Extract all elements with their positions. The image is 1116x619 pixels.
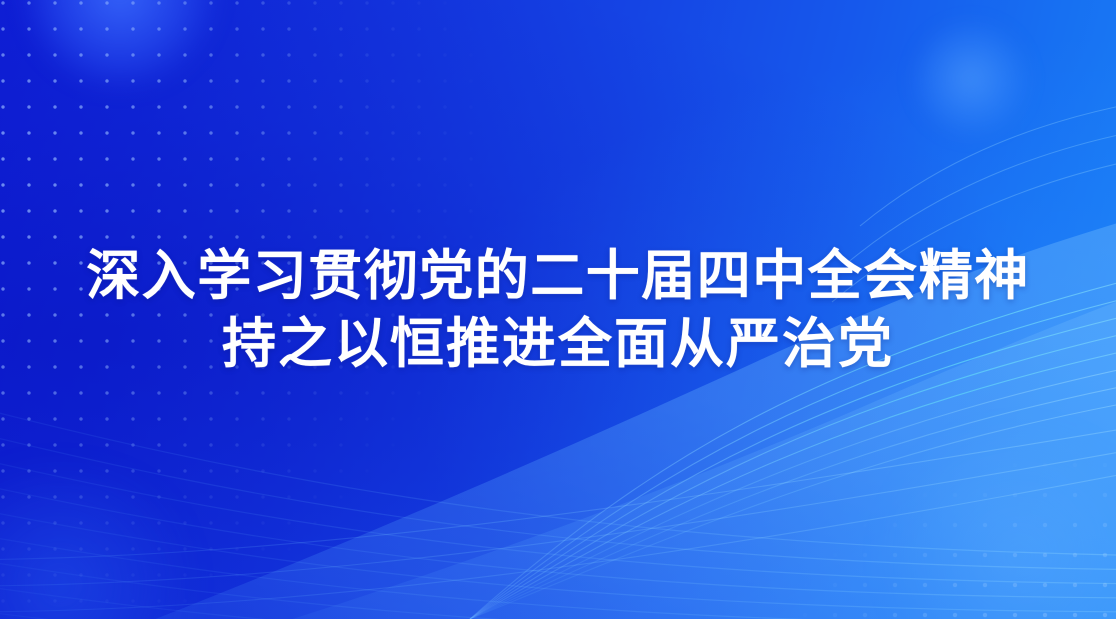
headline-block: 深入学习贯彻党的二十届四中全会精神 持之以恒推进全面从严治党: [0, 243, 1116, 377]
banner-slide: 深入学习贯彻党的二十届四中全会精神 持之以恒推进全面从严治党: [0, 0, 1116, 619]
headline-line-2: 持之以恒推进全面从严治党: [40, 311, 1076, 377]
headline-line-1: 深入学习贯彻党的二十届四中全会精神: [40, 243, 1076, 309]
